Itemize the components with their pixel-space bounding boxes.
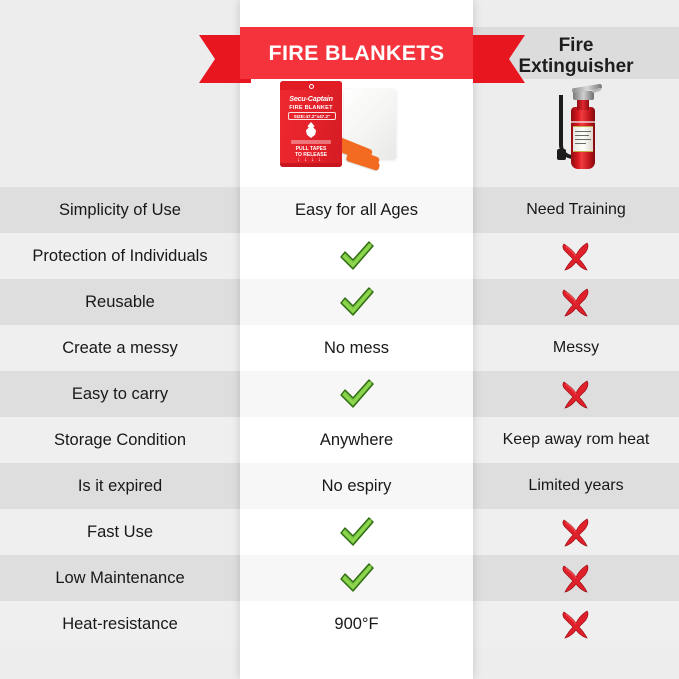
fire-blanket-value-cell: 900°F bbox=[240, 601, 473, 647]
pack-divider-strip bbox=[291, 140, 331, 144]
cross-mark-icon bbox=[560, 287, 592, 317]
feature-label-cell: Easy to carry bbox=[0, 371, 240, 417]
extinguisher-body-band bbox=[571, 121, 595, 123]
fire-blanket-pack-icon: Secu-Captain FIRE BLANKET SIZE:47.2"x47.… bbox=[280, 81, 342, 167]
check-mark-icon bbox=[338, 378, 376, 410]
feature-label: Create a messy bbox=[62, 339, 178, 358]
check-mark-icon bbox=[338, 240, 376, 272]
fire-blanket-value-cell: Easy for all Ages bbox=[240, 187, 473, 233]
feature-label: Fast Use bbox=[87, 523, 153, 542]
fire-blanket-value-cell bbox=[240, 509, 473, 555]
value-text: Limited years bbox=[528, 477, 623, 495]
fire-extinguisher-value-cell bbox=[473, 233, 679, 279]
feature-label: Simplicity of Use bbox=[59, 201, 181, 220]
feature-label: Low Maintenance bbox=[55, 569, 184, 588]
ribbon-center-band: FIRE BLANKETS bbox=[240, 27, 473, 79]
value-text: 900°F bbox=[334, 615, 378, 634]
feature-label: Heat-resistance bbox=[62, 615, 178, 634]
cross-mark-icon bbox=[560, 609, 592, 639]
feature-label-cell: Protection of Individuals bbox=[0, 233, 240, 279]
value-text: Easy for all Ages bbox=[295, 201, 418, 220]
fire-blanket-value-cell: No espiry bbox=[240, 463, 473, 509]
feature-label-cell: Create a messy bbox=[0, 325, 240, 371]
fire-extinguisher-value-cell bbox=[473, 601, 679, 647]
check-mark-icon bbox=[338, 562, 376, 594]
fire-extinguisher-title-line1: Fire bbox=[559, 35, 594, 56]
fire-extinguisher-value-cell: Messy bbox=[473, 325, 679, 371]
feature-label-cell: Fast Use bbox=[0, 509, 240, 555]
feature-label-cell: Low Maintenance bbox=[0, 555, 240, 601]
cross-mark-icon bbox=[560, 241, 592, 271]
feature-label: Storage Condition bbox=[54, 431, 186, 450]
value-text: No espiry bbox=[322, 477, 392, 496]
fire-extinguisher-value-cell: Keep away rom heat bbox=[473, 417, 679, 463]
fire-blanket-value-cell bbox=[240, 279, 473, 325]
flame-icon bbox=[303, 122, 319, 138]
fire-extinguisher-value-cell bbox=[473, 279, 679, 325]
fire-blanket-value-cell: Anywhere bbox=[240, 417, 473, 463]
feature-label-cell: Reusable bbox=[0, 279, 240, 325]
fire-extinguisher-title-line2: Extinguisher bbox=[518, 56, 633, 77]
pack-pull-instruction: PULL TAPES TO RELEASE bbox=[280, 146, 342, 158]
feature-label-cell: Storage Condition bbox=[0, 417, 240, 463]
fire-blanket-value-cell bbox=[240, 233, 473, 279]
value-text: Keep away rom heat bbox=[503, 431, 650, 449]
fire-extinguisher-value-cell bbox=[473, 555, 679, 601]
check-mark-icon bbox=[338, 516, 376, 548]
extinguisher-label-icon bbox=[573, 126, 593, 152]
label-line bbox=[575, 139, 591, 140]
fire-extinguisher-value-cell bbox=[473, 371, 679, 417]
pack-hang-hole bbox=[309, 84, 314, 89]
fire-blankets-title: FIRE BLANKETS bbox=[269, 41, 445, 66]
value-text: Need Training bbox=[526, 201, 626, 219]
fire-blanket-product-image: Secu-Captain FIRE BLANKET SIZE:47.2"x47.… bbox=[240, 79, 473, 187]
cross-mark-icon bbox=[560, 379, 592, 409]
pack-base-strip bbox=[280, 163, 342, 167]
fire-extinguisher-image bbox=[473, 79, 679, 187]
value-text: Anywhere bbox=[320, 431, 393, 450]
extinguisher-nozzle-icon bbox=[557, 149, 566, 160]
feature-label-cell: Heat-resistance bbox=[0, 601, 240, 647]
label-line bbox=[575, 143, 586, 144]
fire-blanket-value-cell bbox=[240, 371, 473, 417]
pack-pull-line1: PULL TAPES bbox=[296, 146, 327, 152]
pack-product-name: FIRE BLANKET bbox=[280, 105, 342, 111]
feature-label: Protection of Individuals bbox=[32, 247, 207, 266]
value-text: Messy bbox=[553, 339, 599, 357]
feature-label-cell: Simplicity of Use bbox=[0, 187, 240, 233]
feature-label: Easy to carry bbox=[72, 385, 168, 404]
fire-blanket-value-cell bbox=[240, 555, 473, 601]
label-line bbox=[575, 135, 589, 136]
feature-label: Reusable bbox=[85, 293, 155, 312]
check-mark-icon bbox=[338, 286, 376, 318]
feature-label-cell: Is it expired bbox=[0, 463, 240, 509]
fire-extinguisher-value-cell bbox=[473, 509, 679, 555]
fire-extinguisher-title: Fire Extinguisher bbox=[473, 30, 679, 82]
cross-mark-icon bbox=[560, 517, 592, 547]
pack-brand-text: Secu-Captain bbox=[280, 94, 342, 103]
fire-extinguisher-value-cell: Need Training bbox=[473, 187, 679, 233]
pack-size-text: SIZE:47.2"x47.2" bbox=[288, 112, 336, 120]
cross-mark-icon bbox=[560, 563, 592, 593]
value-text: No mess bbox=[324, 339, 389, 358]
feature-label: Is it expired bbox=[78, 477, 162, 496]
label-line bbox=[575, 131, 591, 132]
fire-extinguisher-value-cell: Limited years bbox=[473, 463, 679, 509]
fire-blanket-value-cell: No mess bbox=[240, 325, 473, 371]
comparison-table: FIRE BLANKETS Fire Extinguisher Secu-Cap… bbox=[0, 0, 679, 679]
